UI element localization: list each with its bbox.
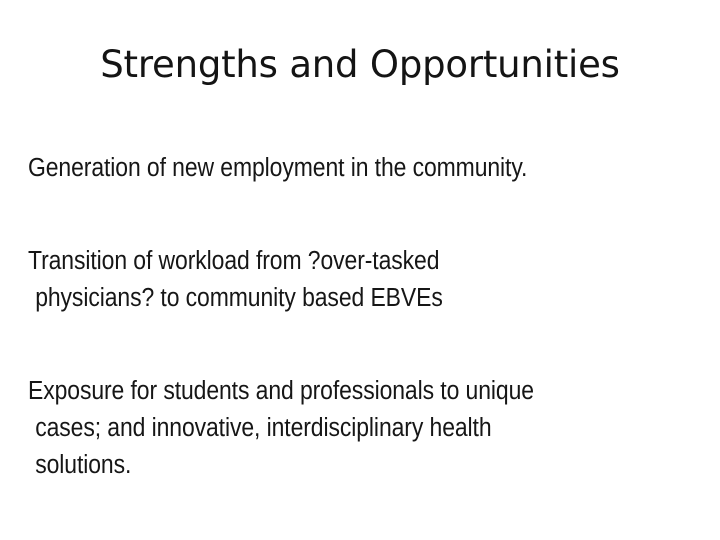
paragraph-workload: Transition of workload from ?over-tasked… <box>28 243 489 317</box>
paragraph-exposure-line-1: Exposure for students and professionals … <box>28 373 534 410</box>
presentation-slide: Strengths and Opportunities Generation o… <box>0 0 720 540</box>
paragraph-employment-line-1: Generation of new employment in the comm… <box>28 150 527 187</box>
paragraph-workload-line-1: Transition of workload from ?over-tasked <box>28 243 443 280</box>
paragraph-employment: Generation of new employment in the comm… <box>28 150 583 187</box>
paragraph-workload-line-2: physicians? to community based EBVEs <box>28 280 443 317</box>
slide-title: Strengths and Opportunities <box>0 42 720 88</box>
paragraph-exposure-line-3: solutions. <box>28 447 534 484</box>
paragraph-exposure: Exposure for students and professionals … <box>28 373 590 484</box>
paragraph-exposure-line-2: cases; and innovative, interdisciplinary… <box>28 410 534 447</box>
